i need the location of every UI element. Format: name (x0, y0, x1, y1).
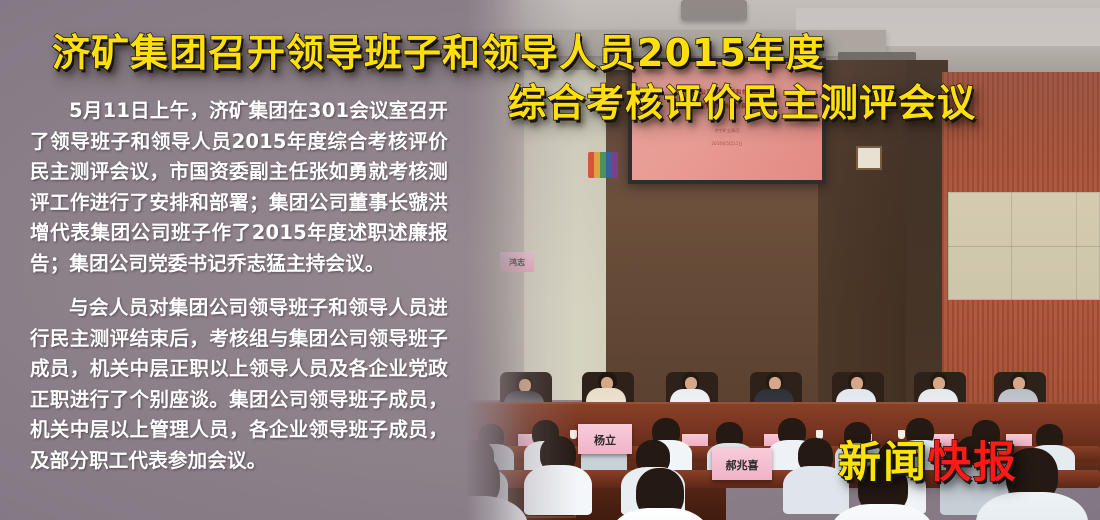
headline-block: 济矿集团召开领导班子和领导人员2015年度 综合考核评价民主测评会议 (0, 0, 1100, 120)
news-flash-watermark: 新闻快报 (838, 428, 1018, 490)
article-body: 5月11日上午，济矿集团在301会议室召开了领导班子和领导人员2015年度综合考… (0, 96, 470, 476)
watermark-text-red: 快报 (928, 438, 1018, 488)
company-logo (588, 152, 618, 178)
name-card-text: 鸿志 (500, 257, 534, 268)
name-card-label: 鸿志 (500, 252, 534, 272)
screen-line-3: 济宁矿业集团 (632, 128, 822, 134)
article-paragraph-2: 与会人员对集团公司领导班子和领导人员进行民主测评结束后，考核组与集团公司领导班子… (0, 293, 470, 476)
headline-line-1: 济矿集团召开领导班子和领导人员2015年度 (52, 22, 825, 77)
name-card-text: 郝兆喜 (712, 457, 772, 473)
framed-picture (858, 148, 880, 168)
article-paragraph-1: 5月11日上午，济矿集团在301会议室召开了领导班子和领导人员2015年度综合考… (0, 96, 470, 279)
acoustic-seam-v2 (1076, 192, 1077, 300)
name-card-front-left: 杨立 (578, 424, 632, 454)
news-banner: 集团公司领导班子和领导人员 2015年度综合考核评价民主测评会议 济宁矿业集团 … (0, 0, 1100, 520)
name-card-text: 杨立 (578, 432, 632, 448)
headline-line-2: 综合考核评价民主测评会议 (508, 72, 976, 127)
acoustic-seam-h (948, 246, 1100, 247)
tea-cup (570, 430, 577, 439)
watermark-text-yellow: 新闻 (838, 438, 928, 488)
name-card-front-right: 郝兆喜 (712, 448, 772, 480)
acoustic-seam-v1 (1011, 192, 1012, 300)
screen-line-4: 2016年5月11日 (632, 141, 822, 147)
